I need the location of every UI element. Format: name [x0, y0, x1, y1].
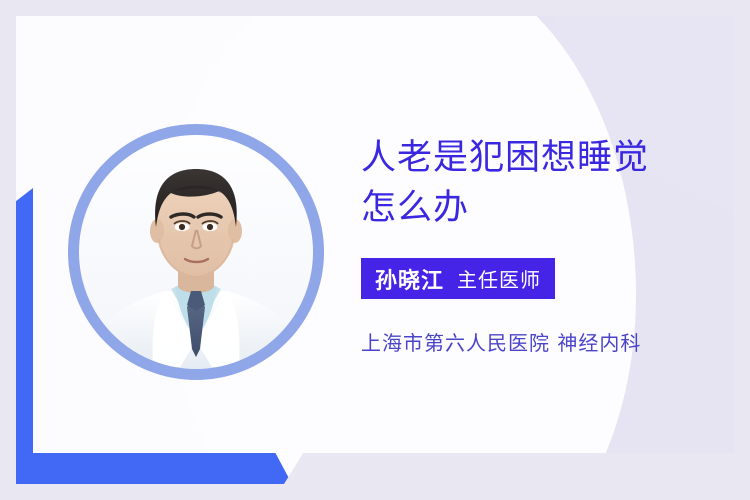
avatar	[68, 124, 324, 380]
doctor-name-badge: 孙晓江 主任医师	[361, 258, 555, 299]
doctor-affiliation: 上海市第六人民医院 神经内科	[361, 327, 641, 356]
doctor-title: 主任医师	[457, 264, 541, 293]
portrait-ring-icon	[68, 124, 324, 380]
accent-bar-left	[16, 188, 33, 484]
accent-bar-bottom-light	[284, 453, 734, 484]
accent-bar-bottom	[16, 453, 292, 484]
doctor-info-card: 人老是犯困想睡觉 怎么办 孙晓江 主任医师 上海市第六人民医院 神经内科	[16, 16, 734, 484]
text-column: 人老是犯困想睡觉 怎么办 孙晓江 主任医师 上海市第六人民医院 神经内科	[345, 16, 734, 484]
page-title: 人老是犯困想睡觉 怎么办	[361, 133, 721, 233]
doctor-name: 孙晓江	[375, 263, 444, 295]
